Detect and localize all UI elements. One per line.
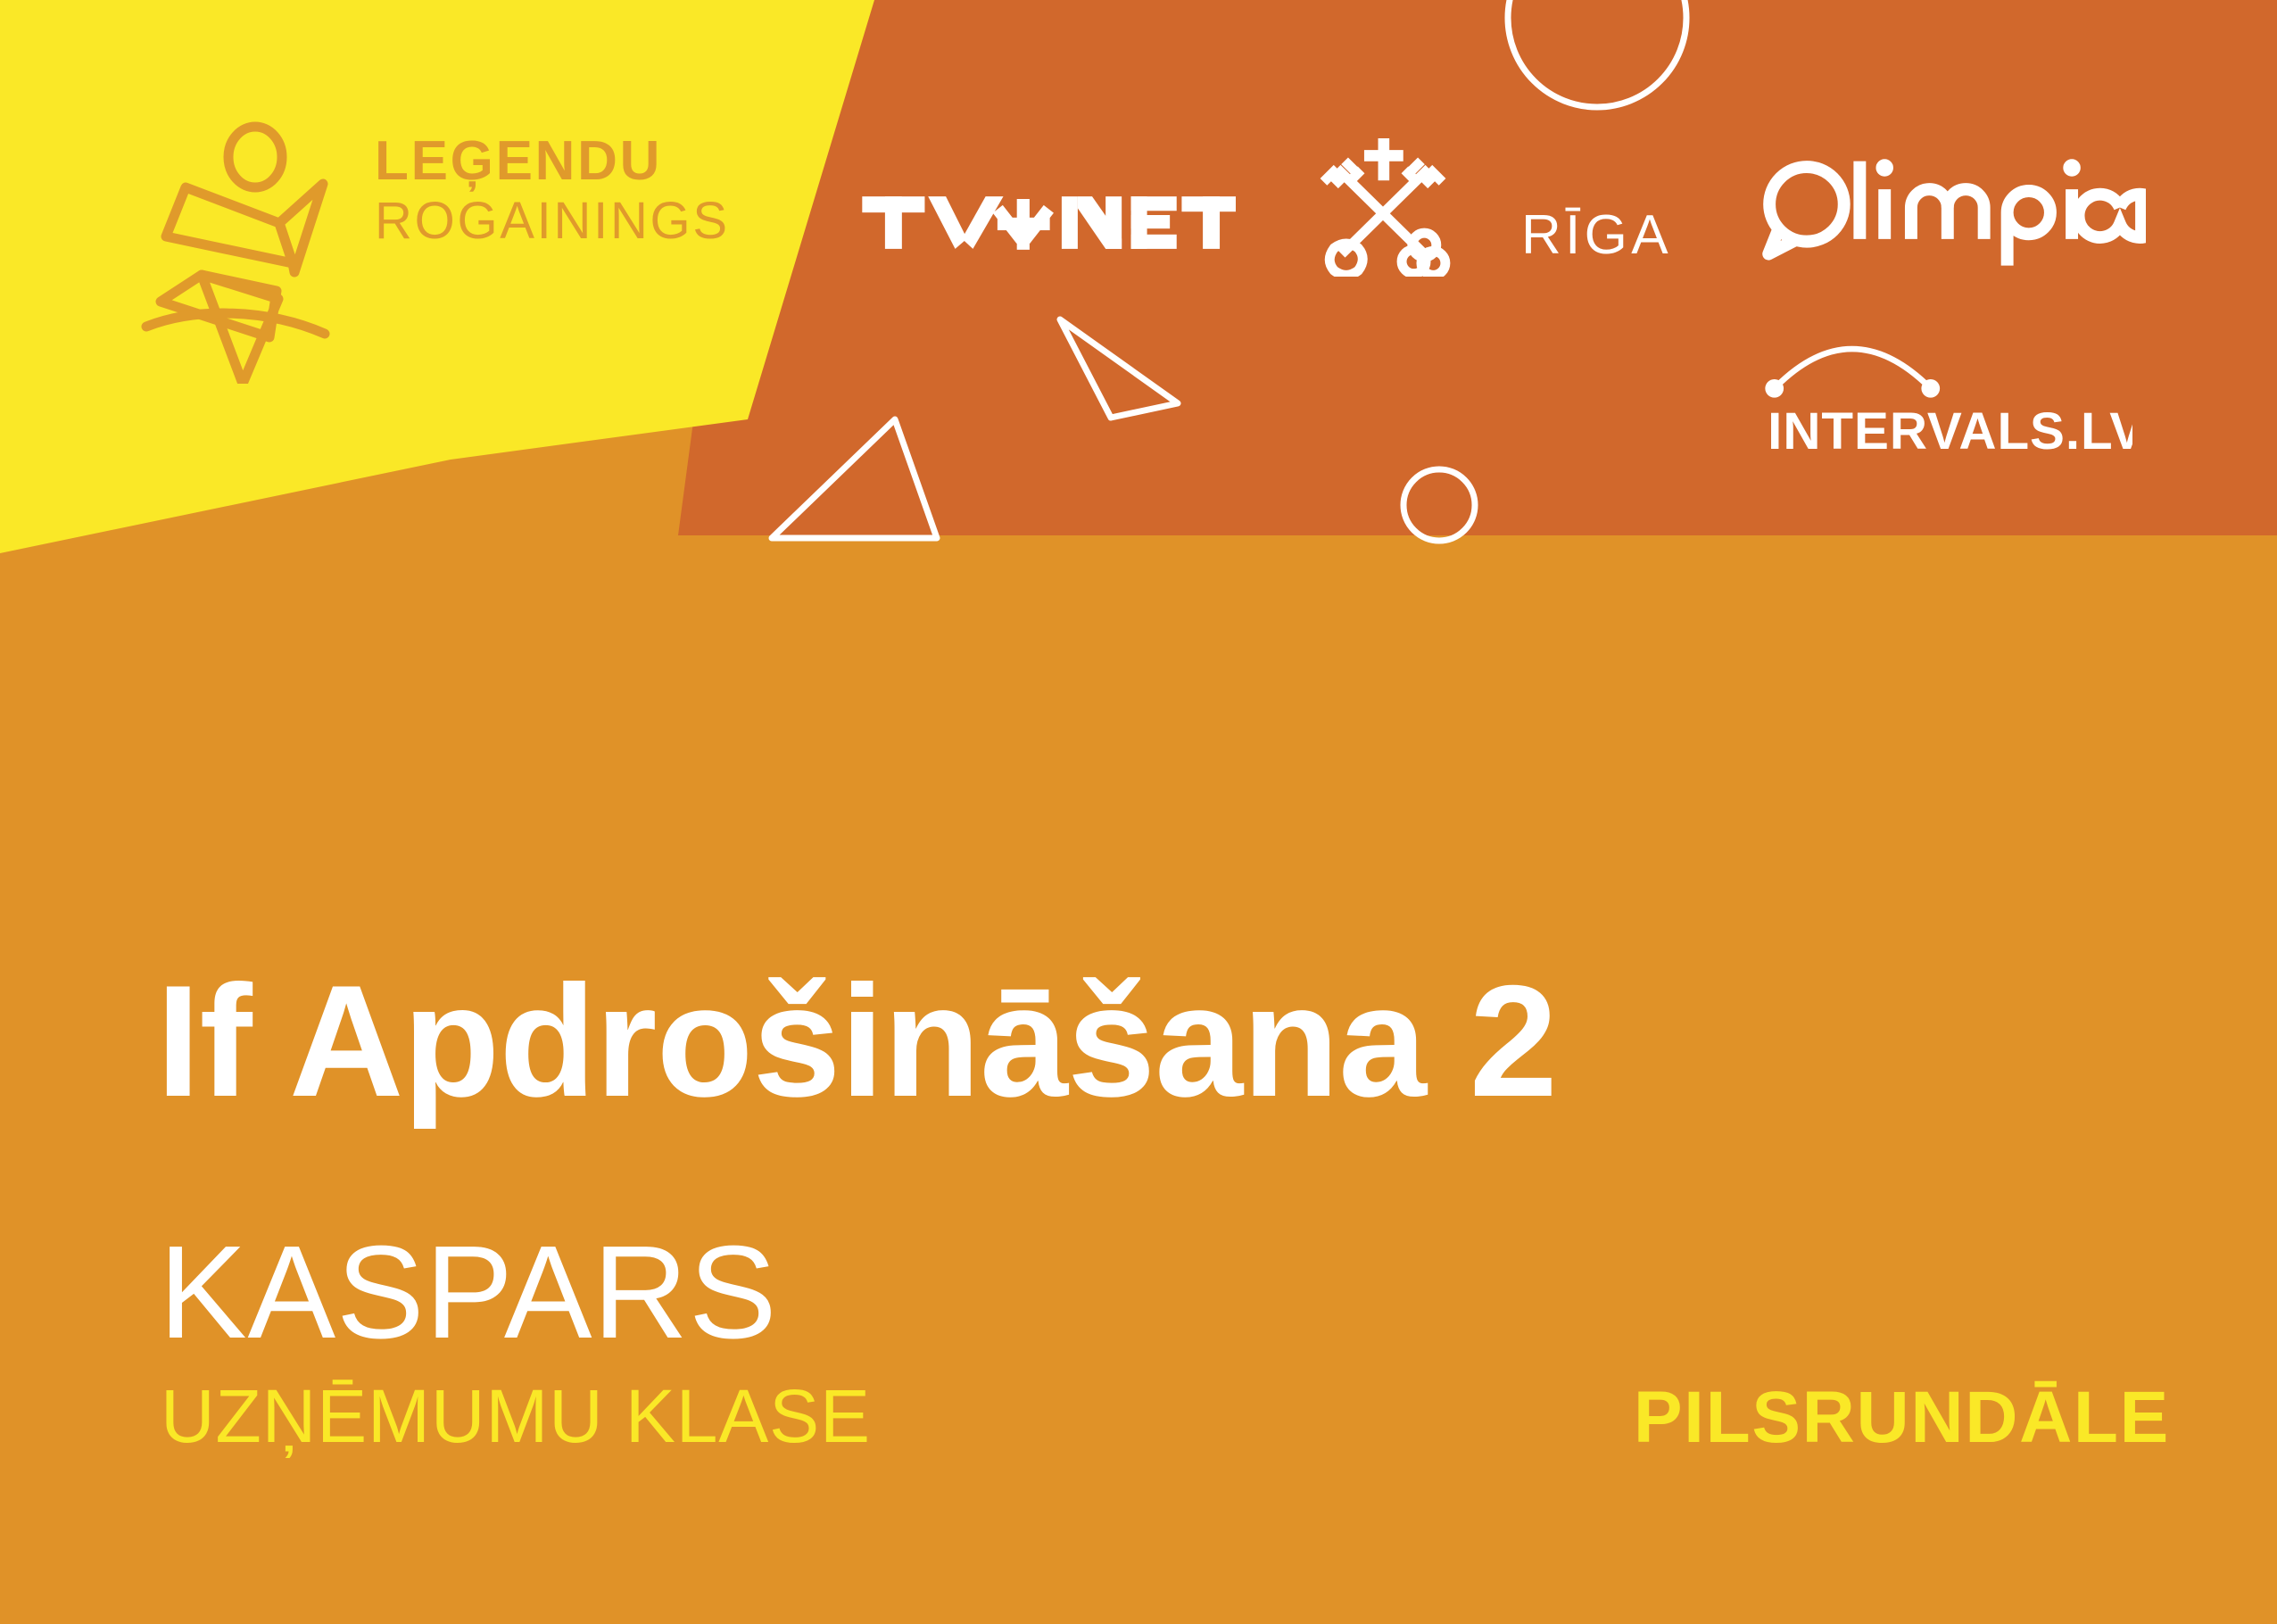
participant-name: KASPARS [159, 1227, 777, 1359]
riga-crossed-keys-icon [1298, 134, 1468, 277]
event-poster: LEĢENDU ROGAININGS [0, 0, 2277, 1624]
runner-figure-icon [134, 116, 366, 384]
participant-class: UZŅĒMUMU KLASE [161, 1379, 871, 1454]
intervals-arc [1765, 349, 1940, 398]
riga-wordmark: RĪGA [1521, 203, 1672, 267]
title-block: If Apdrošināšana 2 [156, 962, 2182, 1121]
event-title: If Apdrošināšana 2 [156, 962, 2182, 1121]
tvnet-plus-logo [852, 183, 1236, 263]
olimpia-wordmark-logo [1744, 156, 2146, 272]
legendu-wordmark: LEĢENDU ROGAININGS [375, 134, 730, 254]
brand-line-legendu: LEĢENDU [375, 134, 730, 189]
location-label: PILSRUNDĀLE [1634, 1381, 2170, 1454]
intervals-wordmark: INTERVALS.LV [1768, 402, 2132, 460]
intervals-arc-logo: INTERVALS.LV [1722, 321, 2132, 464]
brand-line-rogainings: ROGAININGS [375, 189, 730, 254]
legendu-rogainings-logo: LEĢENDU ROGAININGS [134, 116, 723, 402]
